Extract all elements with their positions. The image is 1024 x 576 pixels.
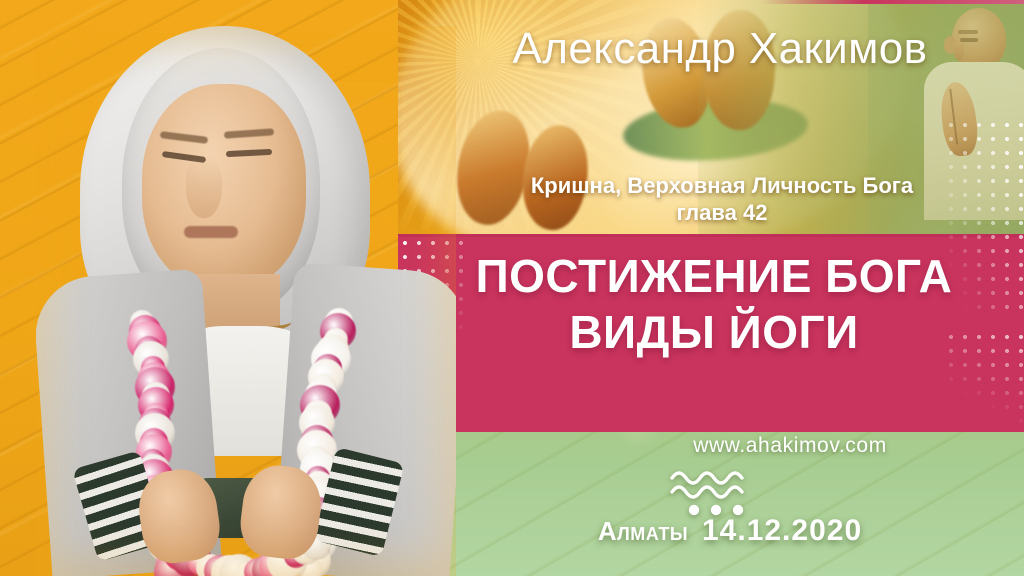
title-line-1: ПОСТИЖЕНИЕ БОГА (476, 250, 953, 302)
speaker-portrait-photo (36, 26, 456, 576)
portrait-nose (186, 156, 222, 218)
portrait-mouth (184, 226, 238, 238)
page-title: ПОСТИЖЕНИЕ БОГА ВИДЫ ЙОГИ (424, 248, 1004, 360)
place-and-date: Алматы14.12.2020 (520, 514, 940, 548)
lecture-announcement-poster: Александр Хакимов Кришна, Верховная Личн… (0, 0, 1024, 576)
subtitle-line-2: глава 42 (432, 199, 1012, 226)
subtitle-line-1: Кришна, Верховная Личность Бога (531, 173, 913, 198)
speaker-name: Александр Хакимов (440, 24, 1000, 74)
aquarius-waves-icon (668, 466, 764, 518)
subtitle: Кришна, Верховная Личность Бога глава 42 (432, 172, 1012, 226)
website-url[interactable]: www.ahakimov.com (600, 434, 980, 458)
portrait-face (142, 84, 306, 289)
city-label: Алматы (598, 516, 688, 546)
top-accent-line (760, 0, 1024, 4)
date-label: 14.12.2020 (702, 514, 862, 547)
title-line-2: ВИДЫ ЙОГИ (424, 304, 1004, 360)
banner-top-edge (398, 234, 1024, 237)
